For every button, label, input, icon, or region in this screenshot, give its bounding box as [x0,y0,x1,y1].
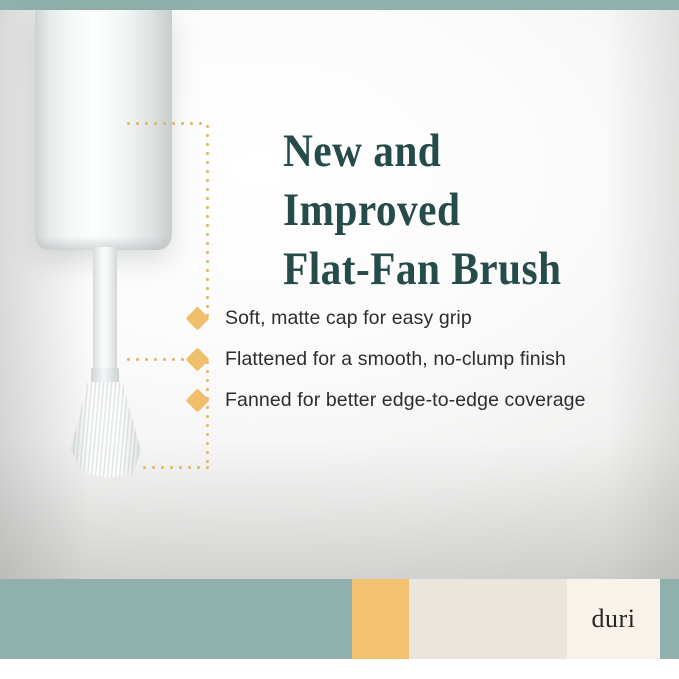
headline-line-1: New and Improved [283,125,460,236]
list-item: Flattened for a smooth, no-clump finish [189,339,659,380]
top-teal-band [0,0,679,10]
color-swatch-gold [352,579,409,659]
brand-logo-text: duri [592,604,636,634]
bottom-white-margin [0,659,679,679]
diamond-bullet-icon [185,306,209,330]
list-item: Fanned for better edge-to-edge coverage [189,380,659,421]
feature-text: Flattened for a smooth, no-clump finish [225,348,566,371]
leader-dots-vertical-upper [206,122,209,318]
page-title: New and Improved Flat-Fan Brush [283,122,626,300]
diamond-bullet-icon [185,347,209,371]
leader-dots-cap-horizontal [124,122,208,125]
feature-list: Soft, matte cap for easy grip Flattened … [189,298,659,421]
color-swatch-cream [409,579,567,659]
brand-logo-plate: duri [567,579,660,659]
diamond-bullet-icon [185,388,209,412]
advertisement-image: New and Improved Flat-Fan Brush Soft, ma… [0,0,679,679]
nail-polish-cap [35,10,172,250]
headline-line-2: Flat-Fan Brush [283,240,626,299]
feature-text: Fanned for better edge-to-edge coverage [225,389,586,412]
leader-dots-bristles-horizontal [140,466,210,469]
feature-text: Soft, matte cap for easy grip [225,307,472,330]
list-item: Soft, matte cap for easy grip [189,298,659,339]
